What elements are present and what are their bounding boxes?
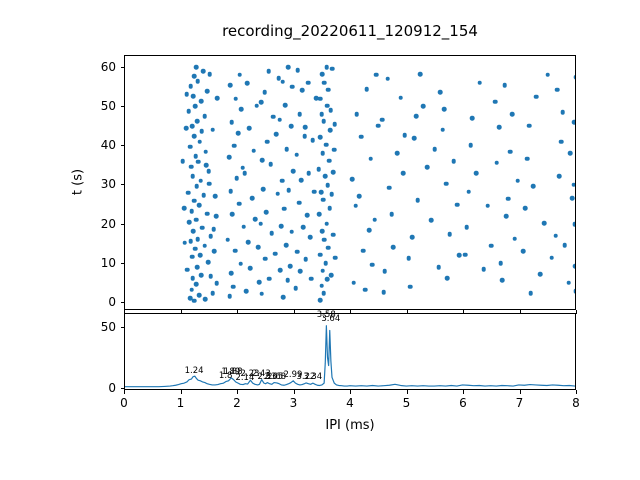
y-tick-mark bbox=[121, 327, 125, 328]
raster-y-axis-label: t (s) bbox=[71, 169, 86, 195]
scatter-point bbox=[381, 290, 386, 295]
histogram-x-axis-label: IPI (ms) bbox=[325, 418, 374, 433]
scatter-point bbox=[259, 291, 264, 296]
scatter-point bbox=[304, 257, 309, 262]
scatter-point bbox=[331, 170, 336, 175]
scatter-point bbox=[436, 265, 441, 270]
x-tick-mark bbox=[124, 390, 125, 394]
scatter-point bbox=[328, 128, 333, 133]
scatter-point bbox=[361, 248, 366, 253]
scatter-point bbox=[198, 178, 203, 183]
scatter-point bbox=[210, 291, 215, 296]
scatter-point bbox=[189, 164, 194, 169]
scatter-point bbox=[465, 225, 470, 230]
scatter-point bbox=[542, 221, 547, 226]
scatter-point bbox=[237, 202, 242, 207]
scatter-point bbox=[182, 206, 187, 211]
scatter-point bbox=[320, 72, 325, 77]
x-tick-mark bbox=[520, 390, 521, 394]
scatter-point bbox=[308, 235, 313, 240]
scatter-point bbox=[545, 73, 550, 78]
scatter-point bbox=[228, 189, 233, 194]
scatter-point bbox=[278, 117, 283, 122]
scatter-point bbox=[194, 184, 199, 189]
scatter-point bbox=[402, 133, 407, 138]
scatter-point bbox=[302, 134, 307, 139]
scatter-point bbox=[319, 190, 324, 195]
scatter-point bbox=[329, 273, 334, 278]
scatter-point bbox=[193, 154, 198, 159]
scatter-point bbox=[574, 75, 576, 80]
scatter-point bbox=[559, 139, 564, 144]
scatter-point bbox=[466, 189, 471, 194]
ipi-histogram-trace bbox=[125, 314, 575, 389]
y-tick-label: 60 bbox=[76, 60, 116, 74]
scatter-point bbox=[325, 277, 330, 282]
scatter-point bbox=[408, 284, 413, 289]
scatter-point bbox=[254, 104, 259, 109]
scatter-point bbox=[326, 183, 331, 188]
scatter-point bbox=[270, 231, 275, 236]
x-tick-mark bbox=[463, 390, 464, 394]
scatter-point bbox=[280, 80, 285, 85]
scatter-point bbox=[278, 268, 283, 273]
scatter-point bbox=[354, 112, 359, 117]
scatter-point bbox=[363, 288, 368, 293]
scatter-point bbox=[513, 237, 518, 242]
scatter-point bbox=[350, 177, 355, 182]
scatter-point bbox=[481, 267, 486, 272]
scatter-point bbox=[187, 109, 192, 114]
scatter-point bbox=[412, 136, 417, 141]
scatter-point bbox=[523, 206, 528, 211]
scatter-point bbox=[557, 174, 562, 179]
x-tick-label: 0 bbox=[120, 396, 128, 410]
scatter-point bbox=[256, 245, 261, 250]
scatter-point bbox=[470, 116, 475, 121]
scatter-point bbox=[323, 174, 328, 179]
scatter-point bbox=[410, 235, 415, 240]
y-tick-mark bbox=[121, 67, 125, 68]
scatter-point bbox=[306, 171, 311, 176]
scatter-point bbox=[319, 112, 324, 117]
scatter-point bbox=[327, 206, 332, 211]
scatter-point bbox=[183, 240, 188, 245]
scatter-point bbox=[194, 282, 199, 287]
scatter-point bbox=[265, 139, 270, 144]
scatter-point bbox=[415, 198, 420, 203]
scatter-point bbox=[205, 211, 210, 216]
scatter-point bbox=[385, 76, 390, 81]
scatter-point bbox=[310, 138, 315, 143]
scatter-point bbox=[203, 297, 208, 302]
scatter-point bbox=[515, 178, 520, 183]
scatter-point bbox=[497, 125, 502, 130]
scatter-point bbox=[395, 151, 400, 156]
scatter-point bbox=[293, 286, 298, 291]
scatter-point bbox=[184, 126, 189, 131]
scatter-point bbox=[227, 155, 232, 160]
scatter-point bbox=[320, 151, 325, 156]
y-tick-mark bbox=[121, 302, 125, 303]
scatter-point bbox=[266, 69, 271, 74]
scatter-point bbox=[521, 249, 526, 254]
scatter-point bbox=[267, 277, 272, 282]
scatter-point bbox=[448, 232, 453, 237]
peak-annotation: 1.24 bbox=[185, 367, 204, 376]
scatter-point bbox=[370, 262, 375, 267]
scatter-point bbox=[406, 256, 411, 261]
scatter-point bbox=[309, 277, 314, 282]
scatter-point bbox=[527, 124, 532, 129]
scatter-point bbox=[478, 80, 483, 85]
scatter-point bbox=[485, 204, 490, 209]
scatter-point bbox=[572, 222, 576, 227]
scatter-point bbox=[318, 252, 323, 257]
scatter-point bbox=[367, 228, 372, 233]
scatter-point bbox=[323, 261, 328, 266]
scatter-point bbox=[493, 99, 498, 104]
scatter-point bbox=[209, 234, 214, 239]
scatter-point bbox=[242, 171, 247, 176]
scatter-point bbox=[376, 124, 381, 129]
scatter-point bbox=[549, 255, 554, 260]
scatter-point bbox=[211, 227, 216, 232]
scatter-point bbox=[328, 108, 333, 113]
scatter-point bbox=[316, 167, 321, 172]
scatter-point bbox=[365, 87, 370, 92]
scatter-point bbox=[508, 149, 513, 154]
scatter-point bbox=[318, 96, 323, 101]
scatter-point bbox=[468, 143, 473, 148]
scatter-point bbox=[237, 73, 242, 78]
scatter-point bbox=[297, 112, 302, 117]
peak-annotation: 3.64 bbox=[321, 315, 340, 324]
scatter-point bbox=[188, 144, 193, 149]
scatter-point bbox=[568, 151, 573, 156]
x-tick-label: 7 bbox=[516, 396, 524, 410]
y-tick-label: 10 bbox=[76, 256, 116, 270]
scatter-point bbox=[207, 72, 212, 77]
scatter-point bbox=[199, 273, 204, 278]
scatter-point bbox=[285, 278, 290, 283]
scatter-point bbox=[452, 159, 457, 164]
y-tick-label: 50 bbox=[76, 99, 116, 113]
scatter-point bbox=[214, 281, 219, 286]
scatter-point bbox=[418, 72, 423, 77]
scatter-point bbox=[191, 229, 196, 234]
scatter-point bbox=[474, 171, 479, 176]
scatter-point bbox=[570, 196, 575, 201]
scatter-point bbox=[534, 95, 539, 100]
scatter-point bbox=[257, 280, 262, 285]
scatter-point bbox=[247, 126, 252, 131]
scatter-point bbox=[389, 212, 394, 217]
scatter-point bbox=[200, 129, 205, 134]
scatter-point bbox=[318, 135, 323, 140]
scatter-point bbox=[332, 147, 337, 152]
x-tick-label: 6 bbox=[459, 396, 467, 410]
scatter-point bbox=[230, 212, 235, 217]
x-tick-mark bbox=[576, 310, 577, 314]
scatter-point bbox=[327, 158, 332, 163]
scatter-point bbox=[561, 110, 566, 115]
scatter-point bbox=[279, 224, 284, 229]
scatter-point bbox=[398, 95, 403, 100]
scatter-point bbox=[574, 289, 576, 294]
scatter-point bbox=[192, 134, 197, 139]
y-tick-mark bbox=[121, 184, 125, 185]
scatter-point bbox=[194, 217, 199, 222]
scatter-point bbox=[303, 125, 308, 130]
scatter-point bbox=[202, 244, 207, 249]
x-tick-mark bbox=[576, 390, 577, 394]
scatter-point bbox=[186, 190, 191, 195]
scatter-point bbox=[197, 139, 202, 144]
scatter-point bbox=[191, 276, 196, 281]
scatter-point bbox=[290, 84, 295, 89]
scatter-point bbox=[241, 224, 246, 229]
scatter-point bbox=[332, 122, 337, 127]
scatter-point bbox=[429, 218, 434, 223]
ipi-histogram-axes bbox=[124, 313, 576, 390]
scatter-point bbox=[268, 162, 273, 167]
scatter-point bbox=[297, 200, 302, 205]
scatter-point bbox=[201, 193, 206, 198]
matplotlib-figure: recording_20220611_120912_154 0102030405… bbox=[0, 0, 640, 480]
scatter-point bbox=[333, 255, 338, 260]
histogram-polyline bbox=[125, 326, 575, 387]
scatter-point bbox=[331, 233, 336, 238]
scatter-point bbox=[494, 160, 499, 165]
scatter-point bbox=[319, 284, 324, 289]
x-tick-label: 1 bbox=[177, 396, 185, 410]
peak-annotation: 3.34 bbox=[303, 373, 322, 382]
scatter-point bbox=[250, 196, 255, 201]
scatter-point bbox=[320, 229, 325, 234]
scatter-point bbox=[357, 194, 362, 199]
x-tick-mark bbox=[350, 390, 351, 394]
scatter-point bbox=[432, 147, 437, 152]
scatter-point bbox=[298, 269, 303, 274]
scatter-point bbox=[261, 187, 266, 192]
scatter-point bbox=[457, 253, 462, 258]
scatter-point bbox=[566, 280, 571, 285]
scatter-point bbox=[312, 189, 317, 194]
y-tick-mark bbox=[121, 224, 125, 225]
x-tick-label: 3 bbox=[290, 396, 298, 410]
scatter-point bbox=[187, 220, 192, 225]
scatter-point bbox=[189, 209, 194, 214]
scatter-point bbox=[555, 87, 560, 92]
scatter-point bbox=[291, 169, 296, 174]
scatter-point bbox=[196, 79, 201, 84]
scatter-point bbox=[306, 80, 311, 85]
scatter-point bbox=[275, 191, 280, 196]
scatter-point bbox=[280, 178, 285, 183]
scatter-point bbox=[258, 221, 263, 226]
scatter-point bbox=[192, 198, 197, 203]
scatter-point bbox=[284, 147, 289, 152]
scatter-point bbox=[212, 249, 217, 254]
scatter-point bbox=[538, 272, 543, 277]
scatter-point bbox=[553, 233, 558, 238]
scatter-point bbox=[185, 268, 190, 273]
scatter-point bbox=[498, 261, 503, 266]
scatter-point bbox=[202, 114, 207, 119]
scatter-point bbox=[528, 291, 533, 296]
scatter-point bbox=[525, 156, 530, 161]
scatter-point bbox=[299, 178, 304, 183]
x-tick-mark bbox=[407, 390, 408, 394]
scatter-point bbox=[510, 112, 515, 117]
scatter-point bbox=[180, 159, 185, 164]
scatter-point bbox=[571, 182, 576, 187]
scatter-point bbox=[190, 255, 195, 260]
scatter-point bbox=[197, 293, 202, 298]
scatter-point bbox=[368, 156, 373, 161]
y-tick-mark bbox=[121, 106, 125, 107]
scatter-point bbox=[273, 251, 278, 256]
scatter-point bbox=[296, 68, 301, 73]
scatter-point bbox=[295, 249, 300, 254]
x-tick-label: 2 bbox=[233, 396, 241, 410]
scatter-point bbox=[252, 148, 257, 153]
x-tick-mark bbox=[294, 390, 295, 394]
scatter-point bbox=[189, 288, 194, 293]
x-tick-mark bbox=[181, 390, 182, 394]
scatter-point bbox=[317, 212, 322, 217]
scatter-point bbox=[214, 214, 219, 219]
scatter-point bbox=[442, 107, 447, 112]
scatter-point bbox=[209, 274, 214, 279]
scatter-point bbox=[260, 158, 265, 163]
y-tick-mark bbox=[121, 388, 125, 389]
scatter-point bbox=[263, 257, 268, 262]
scatter-point bbox=[284, 243, 289, 248]
y-tick-label: 0 bbox=[76, 295, 116, 309]
scatter-point bbox=[253, 217, 258, 222]
scatter-point bbox=[192, 299, 197, 304]
scatter-point bbox=[391, 245, 396, 250]
y-tick-mark bbox=[121, 145, 125, 146]
scatter-point bbox=[232, 144, 237, 149]
x-tick-label: 8 bbox=[572, 396, 580, 410]
scatter-point bbox=[374, 73, 379, 78]
scatter-point bbox=[240, 166, 245, 171]
scatter-point bbox=[300, 88, 305, 93]
scatter-point bbox=[372, 217, 377, 222]
y-tick-label: 0 bbox=[76, 381, 116, 395]
scatter-point bbox=[445, 276, 450, 281]
scatter-point bbox=[330, 66, 335, 71]
scatter-point bbox=[188, 84, 193, 89]
scatter-point bbox=[227, 294, 232, 299]
scatter-point bbox=[531, 184, 536, 189]
y-tick-label: 50 bbox=[76, 320, 116, 334]
scatter-point bbox=[305, 213, 310, 218]
scatter-point bbox=[228, 83, 233, 88]
raster-plot-axes bbox=[124, 55, 576, 310]
scatter-point bbox=[562, 243, 567, 248]
scatter-point bbox=[194, 65, 199, 70]
scatter-point bbox=[326, 87, 331, 92]
scatter-point bbox=[414, 114, 419, 119]
scatter-point bbox=[286, 65, 291, 70]
scatter-point bbox=[322, 80, 327, 85]
x-tick-label: 5 bbox=[403, 396, 411, 410]
scatter-point bbox=[573, 264, 576, 269]
scatter-point bbox=[489, 244, 494, 249]
scatter-point bbox=[321, 197, 326, 202]
scatter-point bbox=[239, 261, 244, 266]
scatter-point bbox=[329, 192, 334, 197]
scatter-point bbox=[324, 65, 329, 70]
scatter-point bbox=[444, 182, 449, 187]
scatter-point bbox=[463, 252, 468, 257]
scatter-point bbox=[322, 237, 327, 242]
y-tick-label: 20 bbox=[76, 217, 116, 231]
scatter-point bbox=[245, 81, 250, 86]
scatter-point bbox=[281, 295, 286, 300]
scatter-point bbox=[353, 204, 358, 209]
scatter-point bbox=[190, 124, 195, 129]
scatter-point bbox=[233, 96, 238, 101]
scatter-point bbox=[201, 69, 206, 74]
scatter-point bbox=[359, 135, 364, 140]
scatter-point bbox=[188, 239, 193, 244]
scatter-point bbox=[289, 229, 294, 234]
scatter-point bbox=[438, 90, 443, 95]
scatter-point bbox=[326, 246, 331, 251]
y-tick-mark bbox=[121, 263, 125, 264]
scatter-point bbox=[213, 194, 218, 199]
scatter-point bbox=[196, 237, 201, 242]
scatter-point bbox=[274, 132, 279, 137]
scatter-point bbox=[322, 291, 327, 296]
scatter-point bbox=[204, 163, 209, 168]
scatter-point bbox=[215, 96, 220, 101]
scatter-point bbox=[239, 107, 244, 112]
scatter-point bbox=[205, 89, 210, 94]
scatter-point bbox=[229, 271, 234, 276]
scatter-point bbox=[440, 127, 445, 132]
scatter-point bbox=[383, 269, 388, 274]
scatter-point bbox=[301, 225, 306, 230]
scatter-point bbox=[352, 280, 357, 285]
scatter-point bbox=[324, 221, 329, 226]
y-tick-label: 40 bbox=[76, 138, 116, 152]
scatter-point bbox=[262, 90, 267, 95]
scatter-point bbox=[288, 264, 293, 269]
scatter-point bbox=[320, 268, 325, 273]
scatter-point bbox=[229, 120, 234, 125]
scatter-point bbox=[314, 96, 319, 101]
scatter-point bbox=[264, 210, 269, 215]
scatter-point bbox=[193, 104, 198, 109]
scatter-point bbox=[401, 171, 406, 176]
scatter-point bbox=[197, 203, 202, 208]
scatter-point bbox=[195, 119, 200, 124]
scatter-point bbox=[199, 99, 204, 104]
scatter-point bbox=[322, 119, 327, 124]
scatter-point bbox=[226, 237, 231, 242]
scatter-point bbox=[246, 240, 251, 245]
scatter-point bbox=[192, 74, 197, 79]
scatter-point bbox=[455, 202, 460, 207]
scatter-point bbox=[380, 117, 385, 122]
scatter-point bbox=[259, 100, 264, 105]
